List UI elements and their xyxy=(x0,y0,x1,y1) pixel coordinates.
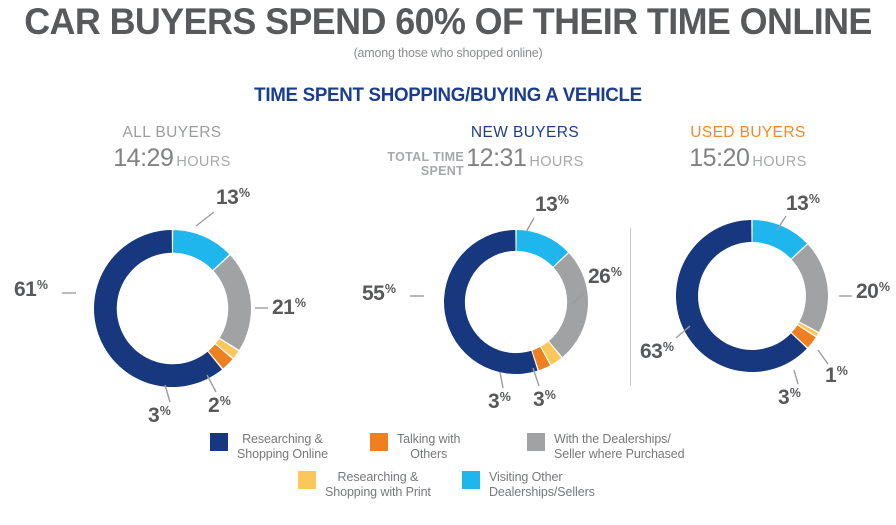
legend-label: Researching & Shopping with Print xyxy=(325,470,431,500)
pct-label-used-3: 3% xyxy=(778,386,800,410)
donut-chart-used-buyers xyxy=(676,220,828,372)
donut-chart-all-buyers xyxy=(94,230,251,387)
legend-label: Researching & Shopping Online xyxy=(237,432,328,462)
legend-item-with-dealerships-purchased[interactable]: With the Dealerships/ Seller where Purch… xyxy=(527,432,737,462)
donut-segments-used-buyers xyxy=(676,220,828,372)
pct-label-all-2: 2% xyxy=(208,394,230,418)
subtitle-note: (among those who shopped online) xyxy=(0,46,896,60)
chart-hours-unit: HOURS xyxy=(176,154,230,170)
page-title: CAR BUYERS SPEND 60% OF THEIR TIME ONLIN… xyxy=(13,2,882,42)
chart-total-time: 14:29 xyxy=(113,144,173,172)
pct-label-used-20: 20% xyxy=(856,280,889,304)
donut-svg-all-buyers xyxy=(94,230,251,387)
pct-label-used-13: 13% xyxy=(786,192,819,216)
donut-segments-all-buyers xyxy=(94,230,251,387)
chart-header-new-buyers: NEW BUYERS 12:31HOURS xyxy=(420,124,630,173)
pct-label-all-21: 21% xyxy=(272,296,305,320)
legend-swatch-gray-icon xyxy=(527,433,545,451)
legend-label: With the Dealerships/ Seller where Purch… xyxy=(554,432,685,462)
donut-segments-new-buyers xyxy=(444,230,588,374)
pct-label-all-13: 13% xyxy=(216,186,249,210)
chart-hours-unit: HOURS xyxy=(529,154,583,170)
donut-slice xyxy=(213,255,251,350)
chart-total-time: 15:20 xyxy=(689,144,749,172)
legend-label: Visiting Other Dealerships/Sellers xyxy=(489,470,595,500)
donut-svg-used-buyers xyxy=(676,220,828,372)
pct-label-new-26: 26% xyxy=(588,265,621,289)
chart-header-all-buyers: ALL BUYERS 14:29HOURS xyxy=(62,124,282,173)
infographic-canvas: CAR BUYERS SPEND 60% OF THEIR TIME ONLIN… xyxy=(0,0,896,525)
pct-label-all-61: 61% xyxy=(14,278,47,302)
chart-category-label: ALL BUYERS xyxy=(62,124,282,142)
pct-label-new-3-print: 3% xyxy=(533,388,555,412)
donut-svg-new-buyers xyxy=(444,230,588,374)
legend-swatch-orange-icon xyxy=(370,433,388,451)
legend-swatch-yellow-icon xyxy=(298,471,316,489)
pct-label-new-13: 13% xyxy=(535,193,568,217)
donut-slice xyxy=(792,245,828,332)
donut-chart-new-buyers xyxy=(444,230,588,374)
legend-item-researching-shopping-print[interactable]: Researching & Shopping with Print xyxy=(298,470,473,500)
legend-label: Talking with Others xyxy=(397,432,460,462)
donut-slice xyxy=(173,230,229,270)
legend-item-talking-with-others[interactable]: Talking with Others xyxy=(370,432,490,462)
chart-hours-unit: HOURS xyxy=(752,154,806,170)
chart-header-used-buyers: USED BUYERS 15:20HOURS xyxy=(648,124,848,173)
donut-slice xyxy=(753,220,807,259)
pct-label-new-55: 55% xyxy=(362,282,395,306)
legend: Researching & Shopping Online Researchin… xyxy=(0,428,896,523)
pct-label-used-63: 63% xyxy=(640,340,673,364)
donut-slice xyxy=(444,230,538,374)
chart-category-label: USED BUYERS xyxy=(648,124,848,142)
panel-divider xyxy=(630,228,631,386)
pct-label-new-3-talking: 3% xyxy=(488,390,510,414)
donut-slice xyxy=(516,230,568,267)
legend-swatch-lightblue-icon xyxy=(462,471,480,489)
section-title: TIME SPENT SHOPPING/BUYING A VEHICLE xyxy=(18,84,878,107)
pct-label-used-1: 1% xyxy=(825,364,847,388)
legend-swatch-navy-icon xyxy=(210,433,228,451)
chart-category-label: NEW BUYERS xyxy=(420,124,630,142)
donut-slice xyxy=(549,253,588,357)
pct-label-all-3: 3% xyxy=(148,404,170,428)
legend-item-visiting-other-dealerships[interactable]: Visiting Other Dealerships/Sellers xyxy=(462,470,637,500)
chart-total-time: 12:31 xyxy=(466,144,526,172)
legend-item-researching-shopping-online[interactable]: Researching & Shopping Online xyxy=(210,432,360,462)
